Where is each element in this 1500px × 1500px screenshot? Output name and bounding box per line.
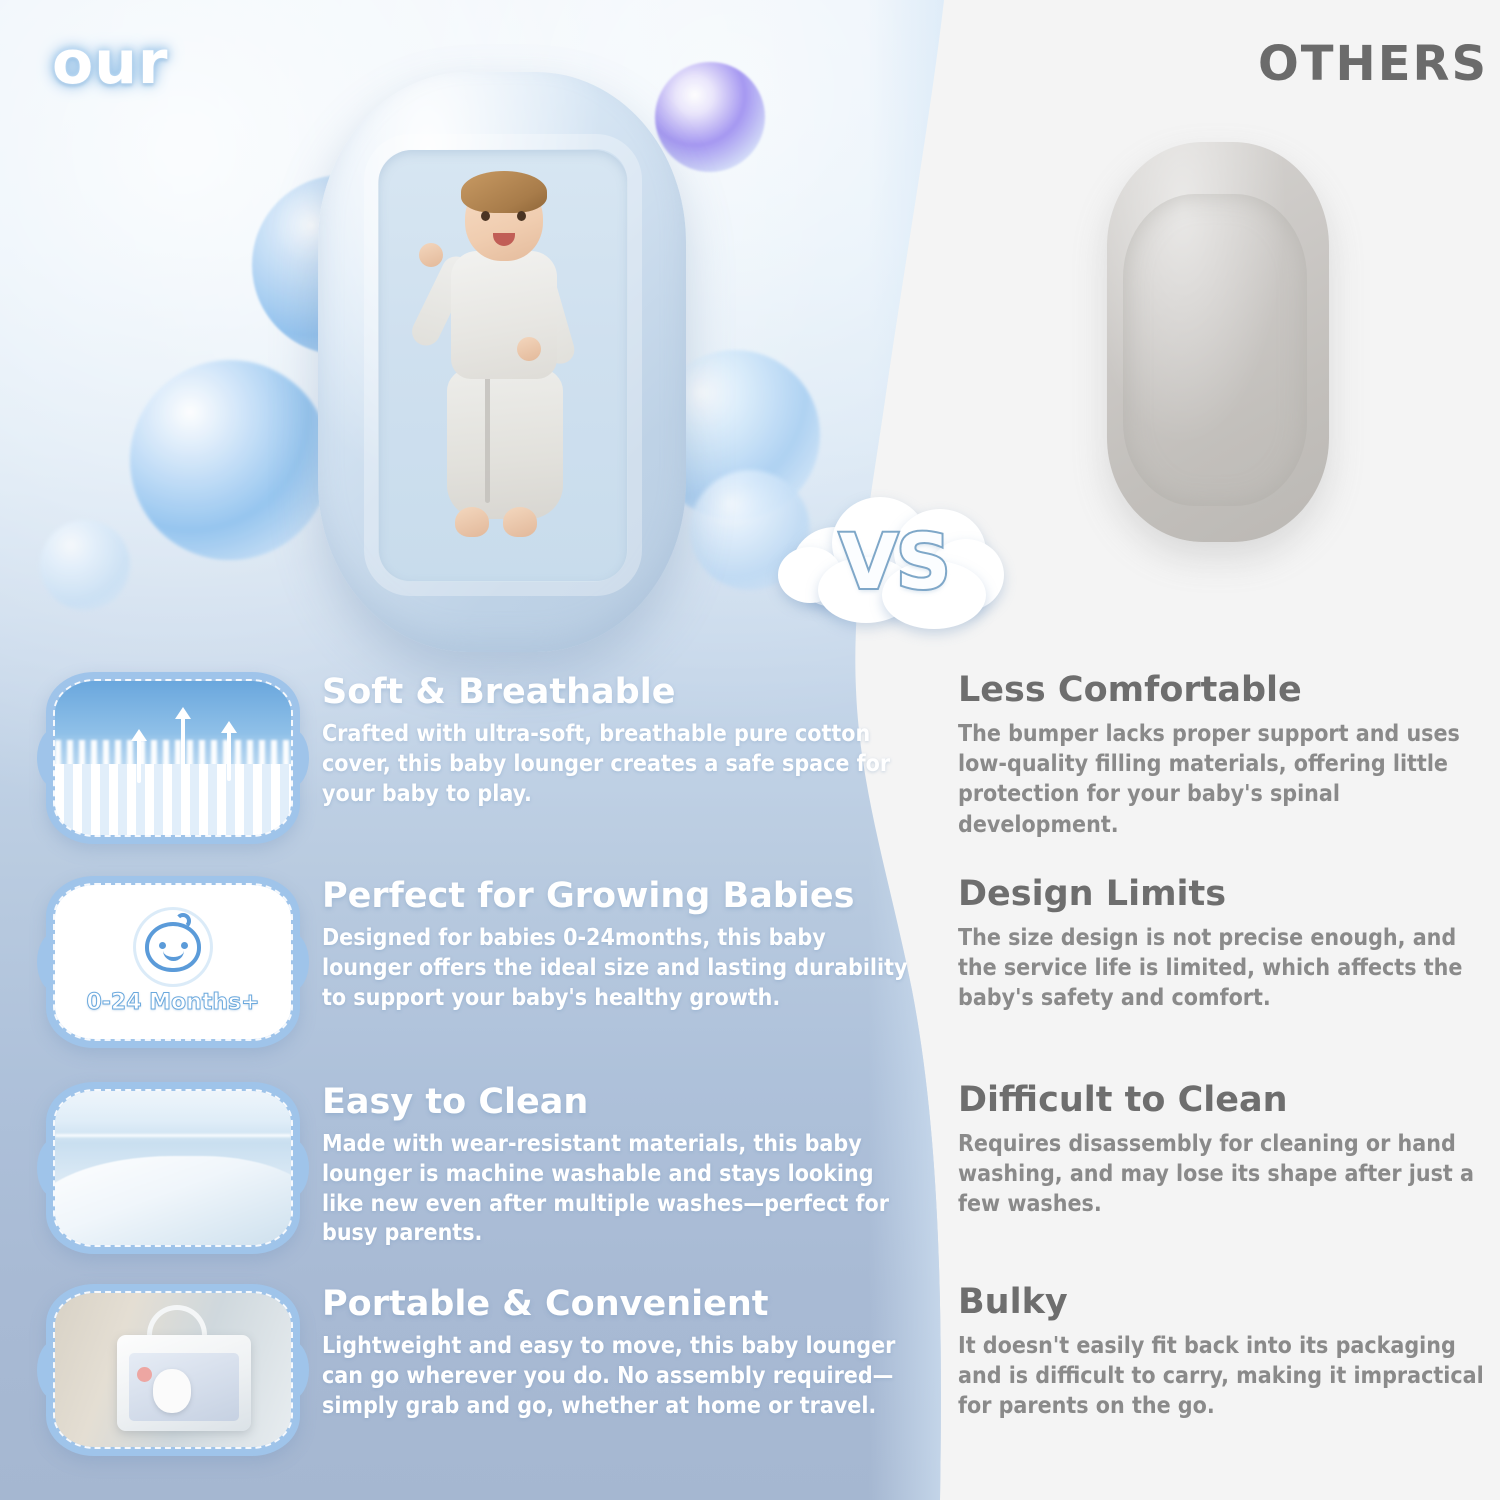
bag-handle-icon [147,1305,207,1339]
airflow-arrow-icon [137,737,141,783]
feature-title: Portable & Convenient [322,1286,926,1323]
age-range-caption: 0-24 Months+ [86,990,259,1015]
icon-plate [53,1089,293,1247]
baby-legs-seam [485,373,490,503]
feature-title: Easy to Clean [322,1084,926,1121]
feature-body: Crafted with ultra-soft, breathable pure… [322,720,922,810]
others-brand-label: OTHERS [1258,36,1488,92]
travel-bag-icon [46,1284,300,1456]
drawback-body: The bumper lacks proper support and uses… [958,719,1488,840]
drawback-row-difficult-to-clean: Difficult to Clean Requires disassembly … [958,1082,1488,1220]
comparison-infographic: our OTHERS VS [0,0,1500,1500]
icon-plate [53,1291,293,1449]
feature-text-block: Soft & Breathable Crafted with ultra-sof… [322,672,926,809]
baby-hair-curl-icon [175,913,191,929]
carry-bag-illustration [55,1293,291,1447]
drawback-body: The size design is not precise enough, a… [958,923,1488,1014]
feature-row-growing-babies: 0-24 Months+ Perfect for Growing Babies … [46,876,926,1048]
drawback-title: Difficult to Clean [958,1082,1488,1119]
submerged-cloth [53,1156,293,1247]
our-product-lounger-image [318,72,686,652]
feature-row-portable: Portable & Convenient Lightweight and ea… [46,1284,926,1456]
baby-fist-right [517,337,541,361]
breathable-illustration [55,681,291,835]
drawback-row-design-limits: Design Limits The size design is not pre… [958,876,1488,1014]
feature-body: Lightweight and easy to move, this baby … [322,1332,922,1422]
icon-plate [53,679,293,837]
baby-legs [447,369,563,519]
drawback-title: Design Limits [958,876,1488,913]
baby-face-icon [136,910,210,984]
baby-icon-eye-left [159,942,166,949]
baby-face-age-icon: 0-24 Months+ [46,876,300,1048]
feature-title: Soft & Breathable [322,674,926,711]
packed-lounger [153,1369,191,1413]
knit-fabric-layer [55,764,291,835]
vs-badge: VS [778,487,1010,637]
drawback-row-less-comfortable: Less Comfortable The bumper lacks proper… [958,672,1488,840]
airflow-arrow-icon [227,729,231,781]
baby-icon-eye-right [181,942,188,949]
water-surface-line [55,1134,291,1137]
baby-face-outline [145,922,201,972]
feature-body: Designed for babies 0-24months, this bab… [322,924,922,1014]
age-range-illustration: 0-24 Months+ [55,885,291,1039]
feature-text-block: Easy to Clean Made with wear-resistant m… [322,1082,926,1249]
packed-item-dot [137,1367,152,1382]
drawback-row-bulky: Bulky It doesn't easily fit back into it… [958,1284,1488,1422]
drawback-body: Requires disassembly for cleaning or han… [958,1129,1488,1220]
our-brand-label: our [52,28,169,98]
washable-fabric-water-icon [46,1082,300,1254]
vs-label: VS [778,517,1010,606]
feature-row-soft-breathable: Soft & Breathable Crafted with ultra-sof… [46,672,926,844]
baby-eye-right [517,211,526,221]
icon-plate: 0-24 Months+ [53,883,293,1041]
water-wash-illustration [55,1091,291,1245]
feature-text-block: Portable & Convenient Lightweight and ea… [322,1284,926,1421]
others-product-pillow-image [1107,142,1329,542]
feature-row-easy-to-clean: Easy to Clean Made with wear-resistant m… [46,1082,926,1254]
drawback-title: Less Comfortable [958,672,1488,709]
feature-body: Made with wear-resistant materials, this… [322,1130,922,1250]
baby-foot-left [455,507,489,537]
breathable-fabric-icon [46,672,300,844]
drawback-title: Bulky [958,1284,1488,1321]
airflow-arrow-icon [181,715,185,781]
baby-fist-left [419,243,443,267]
drawback-body: It doesn't easily fit back into its pack… [958,1331,1488,1422]
feature-title: Perfect for Growing Babies [322,878,926,915]
baby-photo [413,177,593,557]
baby-foot-right [503,507,537,537]
baby-torso [451,251,557,379]
baby-hair [461,171,547,213]
baby-eye-left [481,211,490,221]
feature-text-block: Perfect for Growing Babies Designed for … [322,876,926,1013]
